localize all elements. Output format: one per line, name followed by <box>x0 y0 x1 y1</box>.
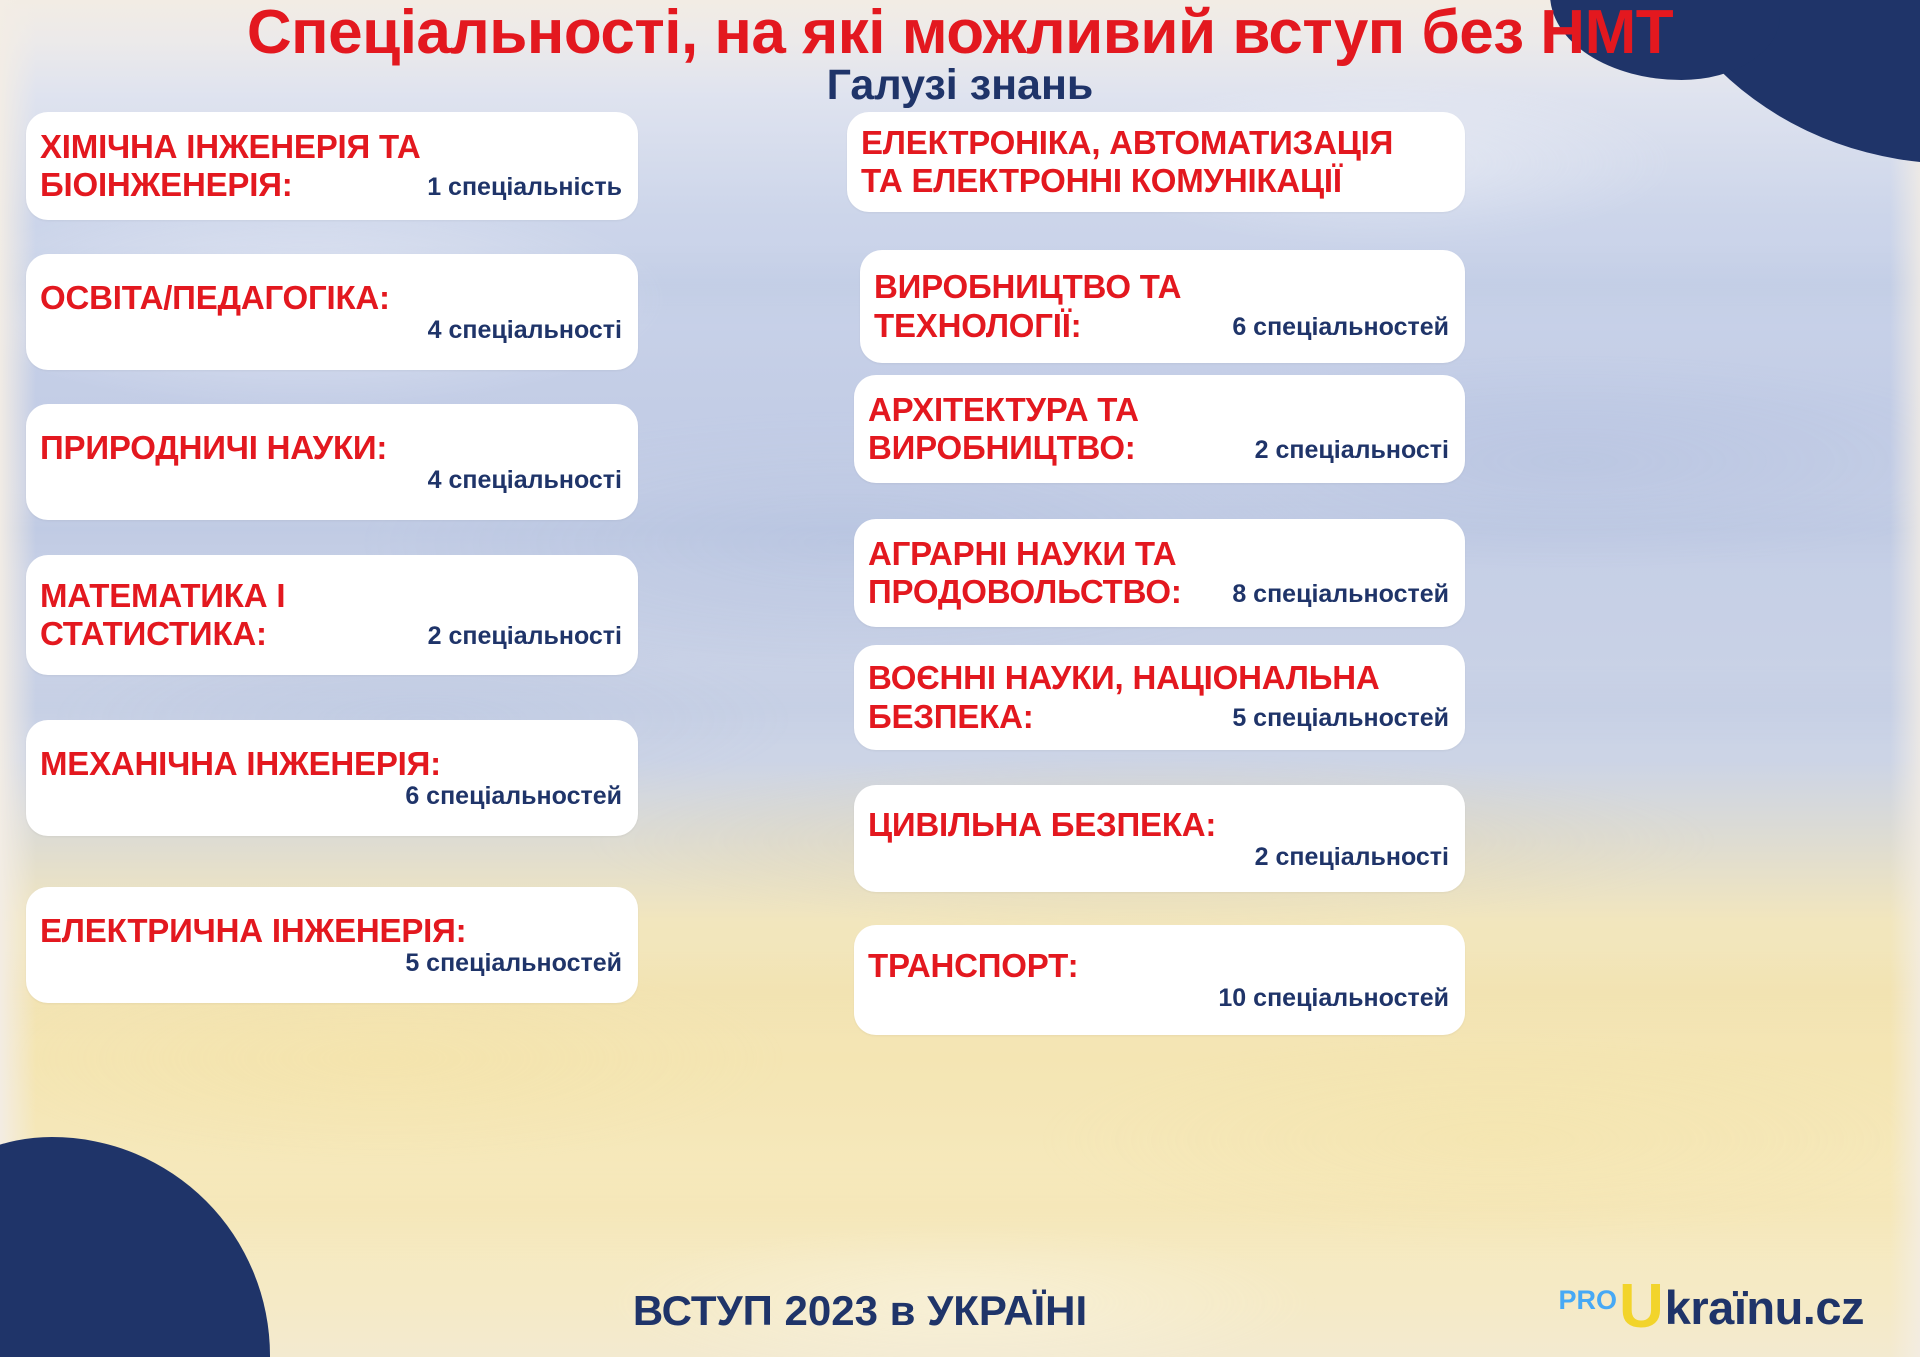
card-title-line1: ОСВІТА/ПЕДАГОГІКА: <box>40 279 622 317</box>
card-title-line2: ТА ЕЛЕКТРОННІ КОМУНІКАЦІЇ <box>861 162 1449 200</box>
card-architecture-production[interactable]: АРХІТЕКТУРА ТА ВИРОБНИЦТВО: 2 спеціально… <box>854 375 1465 483</box>
card-title-line1: МЕХАНІЧНА ІНЖЕНЕРІЯ: <box>40 745 622 783</box>
logo-pro-text: PRO <box>1558 1287 1617 1333</box>
card-bottom-row: ПРОДОВОЛЬСТВО: 8 спеціальностей <box>868 573 1449 611</box>
card-title-line1: ВИРОБНИЦТВО ТА <box>874 268 1449 306</box>
card-transport[interactable]: ТРАНСПОРТ: 10 спеціальностей <box>854 925 1465 1035</box>
prokrainu-logo[interactable]: PRO U kraïnu.cz <box>1558 1282 1864 1333</box>
card-count: 2 спеціальності <box>868 844 1449 872</box>
card-count: 6 спеціальностей <box>40 783 622 811</box>
card-title-line1: ТРАНСПОРТ: <box>868 947 1449 985</box>
card-count: 2 спеціальності <box>428 623 622 654</box>
card-count: 4 спеціальності <box>40 467 622 495</box>
card-title-line1: ЕЛЕКТРИЧНА ІНЖЕНЕРІЯ: <box>40 912 622 950</box>
right-edge-fade <box>1890 0 1920 1357</box>
card-count: 2 спеціальності <box>1255 437 1449 468</box>
card-title-line2: ТЕХНОЛОГІЇ: <box>874 307 1081 345</box>
card-title-line1: ЕЛЕКТРОНІКА, АВТОМАТИЗАЦІЯ <box>861 124 1449 162</box>
card-electronics-automation[interactable]: ЕЛЕКТРОНІКА, АВТОМАТИЗАЦІЯ ТА ЕЛЕКТРОННІ… <box>847 112 1465 212</box>
card-title-line1: ЦИВІЛЬНА БЕЗПЕКА: <box>868 806 1449 844</box>
card-count: 1 спеціальність <box>427 174 622 205</box>
card-electrical-engineering[interactable]: ЕЛЕКТРИЧНА ІНЖЕНЕРІЯ: 5 спеціальностей <box>26 887 638 1003</box>
card-title-line2: ПРОДОВОЛЬСТВО: <box>868 573 1182 611</box>
card-education-pedagogy[interactable]: ОСВІТА/ПЕДАГОГІКА: 4 спеціальності <box>26 254 638 370</box>
card-count: 5 спеціальностей <box>40 950 622 978</box>
card-title-line2: БЕЗПЕКА: <box>868 698 1034 736</box>
card-count: 5 спеціальностей <box>1232 705 1449 736</box>
card-title-line1: ХІМІЧНА ІНЖЕНЕРІЯ ТА <box>40 128 622 166</box>
card-title-line1: ПРИРОДНИЧІ НАУКИ: <box>40 429 622 467</box>
logo-u-text: U <box>1619 1282 1664 1333</box>
footer-text: ВСТУП 2023 в УКРАЇНІ <box>430 1287 1290 1335</box>
card-bottom-row: СТАТИСТИКА: 2 спеціальності <box>40 615 622 653</box>
card-agrarian-sciences-food[interactable]: АГРАРНІ НАУКИ ТА ПРОДОВОЛЬСТВО: 8 спеціа… <box>854 519 1465 627</box>
card-military-sciences-security[interactable]: ВОЄННІ НАУКИ, НАЦІОНАЛЬНА БЕЗПЕКА: 5 спе… <box>854 645 1465 750</box>
card-natural-sciences[interactable]: ПРИРОДНИЧІ НАУКИ: 4 спеціальності <box>26 404 638 520</box>
card-bottom-row: ТЕХНОЛОГІЇ: 6 спеціальностей <box>874 307 1449 345</box>
card-title-line2: БІОІНЖЕНЕРІЯ: <box>40 166 293 204</box>
card-title-line2: ВИРОБНИЦТВО: <box>868 429 1136 467</box>
card-bottom-row: БЕЗПЕКА: 5 спеціальностей <box>868 698 1449 736</box>
card-mathematics-statistics[interactable]: МАТЕМАТИКА І СТАТИСТИКА: 2 спеціальності <box>26 555 638 675</box>
card-production-technologies[interactable]: ВИРОБНИЦТВО ТА ТЕХНОЛОГІЇ: 6 спеціальнос… <box>860 250 1465 363</box>
page-subtitle: Галузі знань <box>0 64 1920 107</box>
card-count: 4 спеціальності <box>40 317 622 345</box>
card-title-line1: АРХІТЕКТУРА ТА <box>868 391 1449 429</box>
card-bottom-row: ВИРОБНИЦТВО: 2 спеціальності <box>868 429 1449 467</box>
card-mechanical-engineering[interactable]: МЕХАНІЧНА ІНЖЕНЕРІЯ: 6 спеціальностей <box>26 720 638 836</box>
card-chemical-bioengineering[interactable]: ХІМІЧНА ІНЖЕНЕРІЯ ТА БІОІНЖЕНЕРІЯ: 1 спе… <box>26 112 638 220</box>
card-count: 8 спеціальностей <box>1232 581 1449 612</box>
logo-rest-text: kraïnu.cz <box>1665 1284 1864 1333</box>
page-title: Спеціальності, на які можливий вступ без… <box>0 2 1920 64</box>
card-title-line1: ВОЄННІ НАУКИ, НАЦІОНАЛЬНА <box>868 659 1449 697</box>
card-title-line1: МАТЕМАТИКА І <box>40 577 622 615</box>
infographic-poster: Спеціальності, на які можливий вступ без… <box>0 0 1920 1357</box>
card-civil-security[interactable]: ЦИВІЛЬНА БЕЗПЕКА: 2 спеціальності <box>854 785 1465 892</box>
card-bottom-row: БІОІНЖЕНЕРІЯ: 1 спеціальність <box>40 166 622 204</box>
card-count: 10 спеціальностей <box>868 985 1449 1013</box>
card-count: 6 спеціальностей <box>1232 314 1449 345</box>
card-title-line2: СТАТИСТИКА: <box>40 615 267 653</box>
card-title-line1: АГРАРНІ НАУКИ ТА <box>868 535 1449 573</box>
